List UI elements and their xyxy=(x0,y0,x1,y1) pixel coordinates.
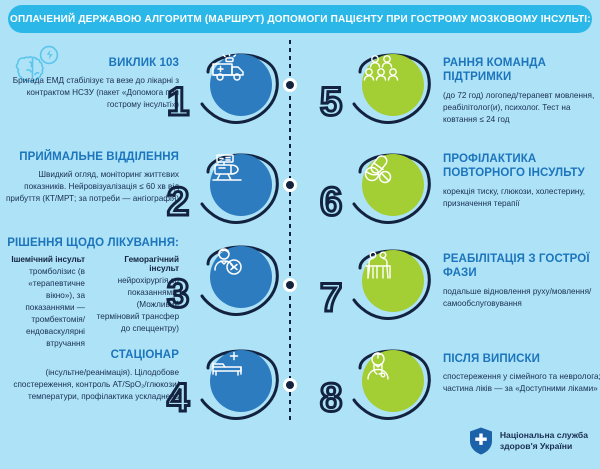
rehabilitation-walking-icon xyxy=(362,250,396,282)
step-8-pin xyxy=(348,340,434,426)
step-card-5[interactable]: 5 РАННЯ КОМАНДА ПІДТРИМКИ (до 72 год) ло… xyxy=(300,42,600,138)
step-3-col1-body: тромболізис (в «терапевтичне вікно»), за… xyxy=(1,266,85,349)
step-2-pin xyxy=(196,144,282,230)
step-card-2[interactable]: ПРИЙМАЛЬНЕ ВІДДІЛЕННЯ Швидкий огляд, мон… xyxy=(0,142,289,238)
step-1-number: 1 xyxy=(167,82,189,122)
step-5-pin xyxy=(348,44,434,130)
step-7-body: подальше відновлення руху/мовлення/самоо… xyxy=(443,286,600,310)
step-4-body: (інсультне/реанімація). Цілодобове спост… xyxy=(4,367,179,403)
step-8-title: ПІСЛЯ ВИПИСКИ xyxy=(443,352,600,366)
footer-text: Національна служба здоров'я України xyxy=(500,430,588,452)
step-7-icon-circle xyxy=(362,250,424,312)
step-6-title: ПРОФІЛАКТИКА ПОВТОРНОГО ІНСУЛЬТУ xyxy=(443,152,600,181)
ambulance-icon xyxy=(210,54,248,84)
step-4-number: 4 xyxy=(167,378,189,418)
step-card-3[interactable]: РІШЕННЯ ЩОДО ЛІКУВАННЯ: Ішемічний інсуль… xyxy=(0,236,289,332)
step-5-number: 5 xyxy=(320,82,342,122)
step-1-icon-circle xyxy=(210,54,272,116)
step-4-title: СТАЦІОНАР xyxy=(4,348,179,362)
step-5-icon-circle xyxy=(362,54,424,116)
step-card-8[interactable]: 8 ПІСЛЯ ВИПИСКИ спостереження у сімейног… xyxy=(300,338,600,434)
step-3-pin xyxy=(196,236,282,322)
step-card-1[interactable]: ВИКЛИК 103 Бригада ЕМД стабілізує та вез… xyxy=(0,42,289,138)
step-3-col-ischemic: Ішемічний інсульт тромболізис (в «терапе… xyxy=(1,255,85,349)
step-3-title: РІШЕННЯ ЩОДО ЛІКУВАННЯ: xyxy=(1,236,179,250)
step-8-body: спостереження у сімейного та невролога; … xyxy=(443,371,600,395)
step-1-body: Бригада ЕМД стабілізує та везе до лікарн… xyxy=(9,75,179,111)
header-banner: ОПЛАЧЕНИЙ ДЕРЖАВОЮ АЛГОРИТМ (МАРШРУТ) ДО… xyxy=(8,5,592,33)
step-3-icon-circle xyxy=(210,246,272,308)
step-2-text: ПРИЙМАЛЬНЕ ВІДДІЛЕННЯ Швидкий огляд, мон… xyxy=(4,150,179,205)
step-5-body: (до 72 год) логопед/терапевт мовлення, р… xyxy=(443,90,598,126)
step-7-number: 7 xyxy=(320,278,342,318)
page-title: ОПЛАЧЕНИЙ ДЕРЖАВОЮ АЛГОРИТМ (МАРШРУТ) ДО… xyxy=(10,14,591,25)
step-3-number: 3 xyxy=(167,274,189,314)
step-card-4[interactable]: СТАЦІОНАР (інсультне/реанімація). Цілодо… xyxy=(0,340,289,436)
step-6-text: ПРОФІЛАКТИКА ПОВТОРНОГО ІНСУЛЬТУ корекці… xyxy=(443,152,600,210)
step-3-col2-title: Геморагічний інсульт xyxy=(95,255,179,273)
team-people-icon xyxy=(362,54,400,84)
footer-line-2: здоров'я України xyxy=(500,441,588,452)
step-2-number: 2 xyxy=(167,182,189,222)
step-2-body: Швидкий огляд, моніторинг життєвих показ… xyxy=(4,169,179,205)
step-7-title: РЕАБІЛІТАЦІЯ З ГОСТРОЇ ФАЗИ xyxy=(443,252,600,281)
step-card-7[interactable]: 7 РЕАБІЛІТАЦІЯ З ГОСТРОЇ ФАЗИ подальше в… xyxy=(300,238,600,334)
step-5-text: РАННЯ КОМАНДА ПІДТРИМКИ (до 72 год) лого… xyxy=(443,56,598,125)
step-7-pin xyxy=(348,240,434,326)
timeline-divider xyxy=(289,40,291,420)
footer-line-1: Національна служба xyxy=(500,430,588,441)
step-8-text: ПІСЛЯ ВИПИСКИ спостереження у сімейного … xyxy=(443,352,600,395)
ct-scanner-icon xyxy=(210,154,244,186)
step-1-text: ВИКЛИК 103 Бригада ЕМД стабілізує та вез… xyxy=(9,56,179,111)
step-6-number: 6 xyxy=(320,182,342,222)
step-4-text: СТАЦІОНАР (інсультне/реанімація). Цілодо… xyxy=(4,348,179,403)
step-4-icon-circle xyxy=(210,350,272,412)
step-6-pin xyxy=(348,144,434,230)
step-6-body: корекція тиску, глюкози, холестерину, пр… xyxy=(443,186,600,210)
step-4-pin xyxy=(196,340,282,426)
hospital-bed-icon xyxy=(210,350,246,380)
step-2-title: ПРИЙМАЛЬНЕ ВІДДІЛЕННЯ xyxy=(4,150,179,164)
pills-icon xyxy=(362,154,396,186)
family-doctor-icon xyxy=(362,350,394,382)
shield-cross-icon xyxy=(469,427,493,455)
step-3-text: РІШЕННЯ ЩОДО ЛІКУВАННЯ: Ішемічний інсуль… xyxy=(1,236,179,350)
step-5-title: РАННЯ КОМАНДА ПІДТРИМКИ xyxy=(443,56,598,85)
footer-logo-block: Національна служба здоров'я України xyxy=(469,427,588,455)
step-3-col1-title: Ішемічний інсульт xyxy=(1,255,85,264)
step-card-6[interactable]: 6 ПРОФІЛАКТИКА ПОВТОРНОГО ІНСУЛЬТУ корек… xyxy=(300,142,600,238)
step-8-number: 8 xyxy=(320,378,342,418)
step-6-icon-circle xyxy=(362,154,424,216)
step-1-pin xyxy=(196,44,282,130)
step-1-title: ВИКЛИК 103 xyxy=(9,56,179,70)
step-7-text: РЕАБІЛІТАЦІЯ З ГОСТРОЇ ФАЗИ подальше від… xyxy=(443,252,600,310)
doctor-decision-icon xyxy=(210,246,244,278)
step-2-icon-circle xyxy=(210,154,272,216)
step-8-icon-circle xyxy=(362,350,424,412)
